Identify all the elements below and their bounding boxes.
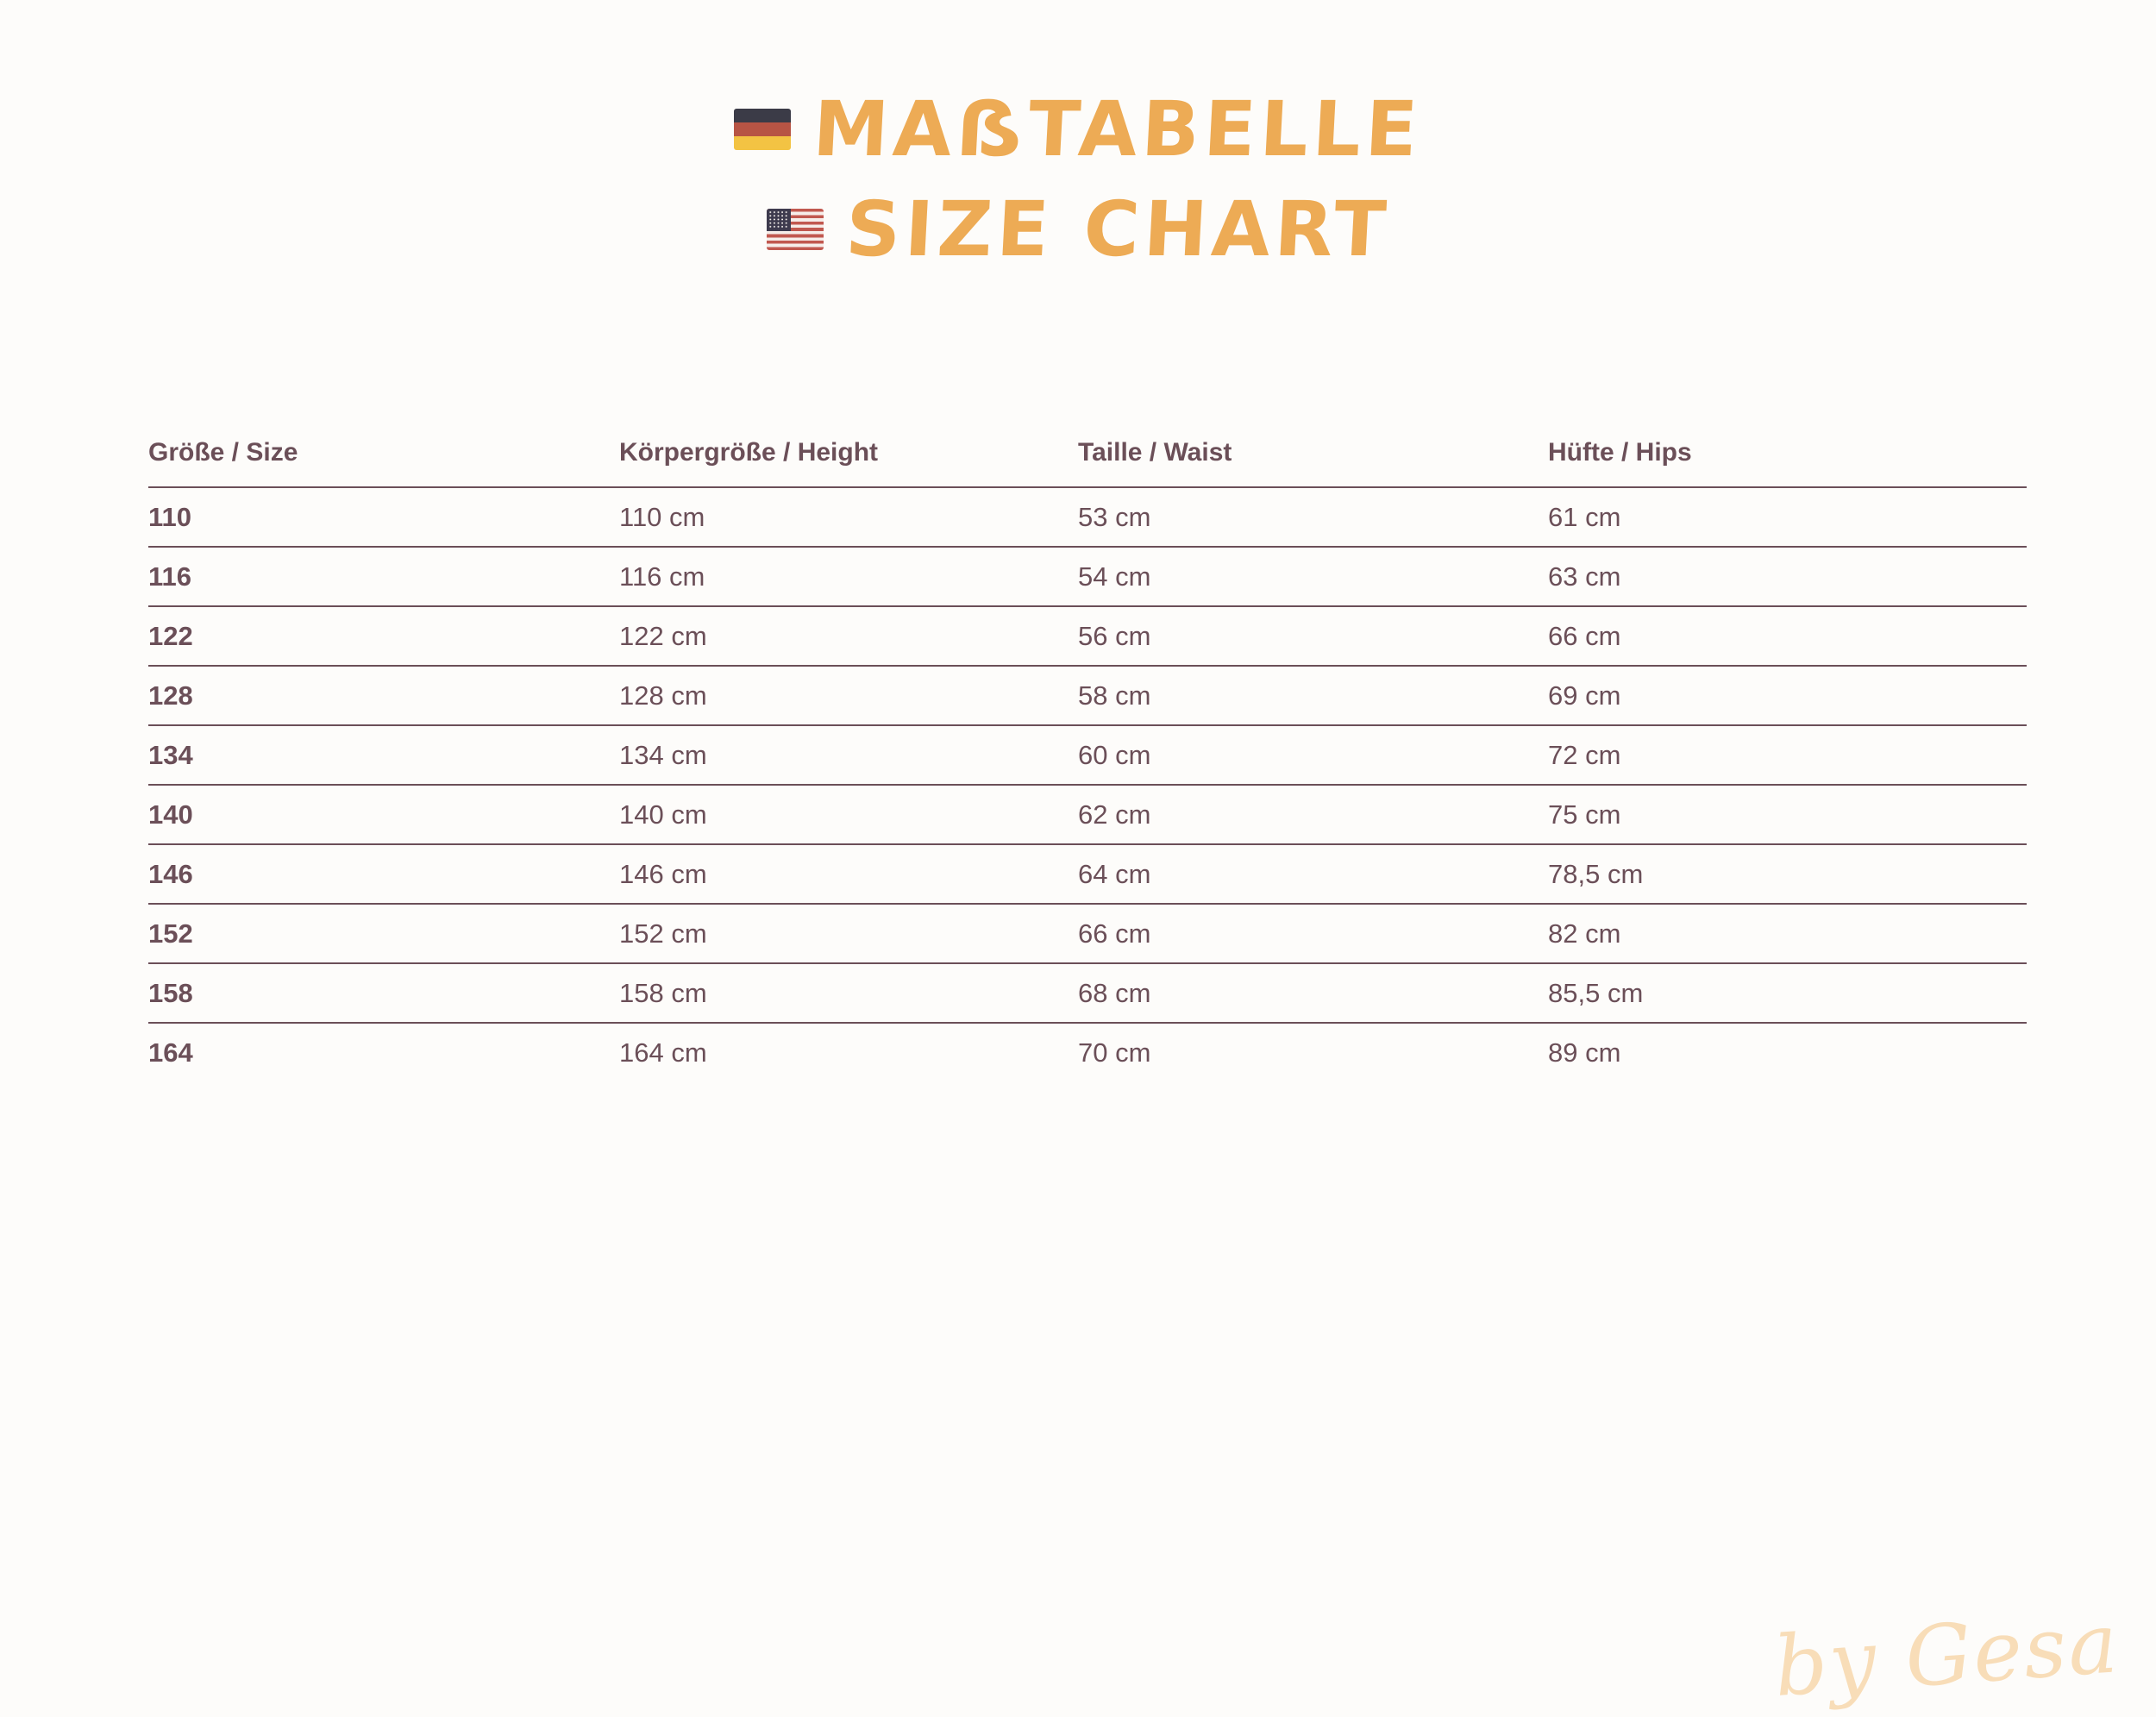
cell-waist: 53 cm [1078,487,1548,547]
cell-size: 116 [148,547,619,606]
cell-size: 164 [148,1023,619,1081]
cell-hips: 75 cm [1548,785,2027,844]
cell-waist: 62 cm [1078,785,1548,844]
cell-waist: 60 cm [1078,725,1548,785]
table-row: 128 128 cm 58 cm 69 cm [148,666,2027,725]
cell-size: 134 [148,725,619,785]
table-header: Größe / Size Körpergröße / Height Taille… [148,438,2027,487]
size-chart-table: Größe / Size Körpergröße / Height Taille… [148,438,2027,1081]
cell-size: 146 [148,844,619,904]
column-header-waist: Taille / Waist [1078,438,1548,487]
table-row: 158 158 cm 68 cm 85,5 cm [148,963,2027,1023]
table-row: 146 146 cm 64 cm 78,5 cm [148,844,2027,904]
cell-height: 128 cm [619,666,1078,725]
cell-hips: 78,5 cm [1548,844,2027,904]
cell-hips: 72 cm [1548,725,2027,785]
cell-hips: 89 cm [1548,1023,2027,1081]
cell-size: 152 [148,904,619,963]
title-size-chart: SIZE CHART [843,191,1391,267]
cell-hips: 69 cm [1548,666,2027,725]
table-row: 110 110 cm 53 cm 61 cm [148,487,2027,547]
table-row: 134 134 cm 60 cm 72 cm [148,725,2027,785]
cell-hips: 82 cm [1548,904,2027,963]
brand-signature: by Gesa [1771,1601,2122,1708]
column-header-hips: Hüfte / Hips [1548,438,2027,487]
cell-waist: 56 cm [1078,606,1548,666]
table-row: 152 152 cm 66 cm 82 cm [148,904,2027,963]
column-header-size: Größe / Size [148,438,619,487]
flag-usa-icon [767,209,824,250]
cell-height: 146 cm [619,844,1078,904]
table-row: 116 116 cm 54 cm 63 cm [148,547,2027,606]
cell-height: 110 cm [619,487,1078,547]
page-title-block: MAẞTABELLE SIZE CHART [0,91,2156,267]
cell-waist: 54 cm [1078,547,1548,606]
table-body: 110 110 cm 53 cm 61 cm 116 116 cm 54 cm … [148,487,2027,1081]
cell-size: 110 [148,487,619,547]
cell-hips: 63 cm [1548,547,2027,606]
table-row: 122 122 cm 56 cm 66 cm [148,606,2027,666]
table-header-row: Größe / Size Körpergröße / Height Taille… [148,438,2027,487]
cell-size: 122 [148,606,619,666]
cell-waist: 64 cm [1078,844,1548,904]
cell-waist: 68 cm [1078,963,1548,1023]
cell-height: 140 cm [619,785,1078,844]
cell-waist: 70 cm [1078,1023,1548,1081]
table-row: 164 164 cm 70 cm 89 cm [148,1023,2027,1081]
flag-usa-canton [767,209,791,231]
cell-waist: 66 cm [1078,904,1548,963]
title-line-german: MAẞTABELLE [0,91,2156,167]
cell-waist: 58 cm [1078,666,1548,725]
table-row: 140 140 cm 62 cm 75 cm [148,785,2027,844]
cell-height: 116 cm [619,547,1078,606]
flag-germany-icon [734,109,791,150]
title-line-english: SIZE CHART [0,191,2156,267]
cell-size: 140 [148,785,619,844]
cell-size: 128 [148,666,619,725]
cell-hips: 61 cm [1548,487,2027,547]
column-header-height: Körpergröße / Height [619,438,1078,487]
cell-height: 158 cm [619,963,1078,1023]
cell-height: 164 cm [619,1023,1078,1081]
cell-height: 122 cm [619,606,1078,666]
title-masstabelle: MAẞTABELLE [812,91,1424,167]
cell-hips: 85,5 cm [1548,963,2027,1023]
cell-height: 134 cm [619,725,1078,785]
cell-hips: 66 cm [1548,606,2027,666]
cell-size: 158 [148,963,619,1023]
cell-height: 152 cm [619,904,1078,963]
